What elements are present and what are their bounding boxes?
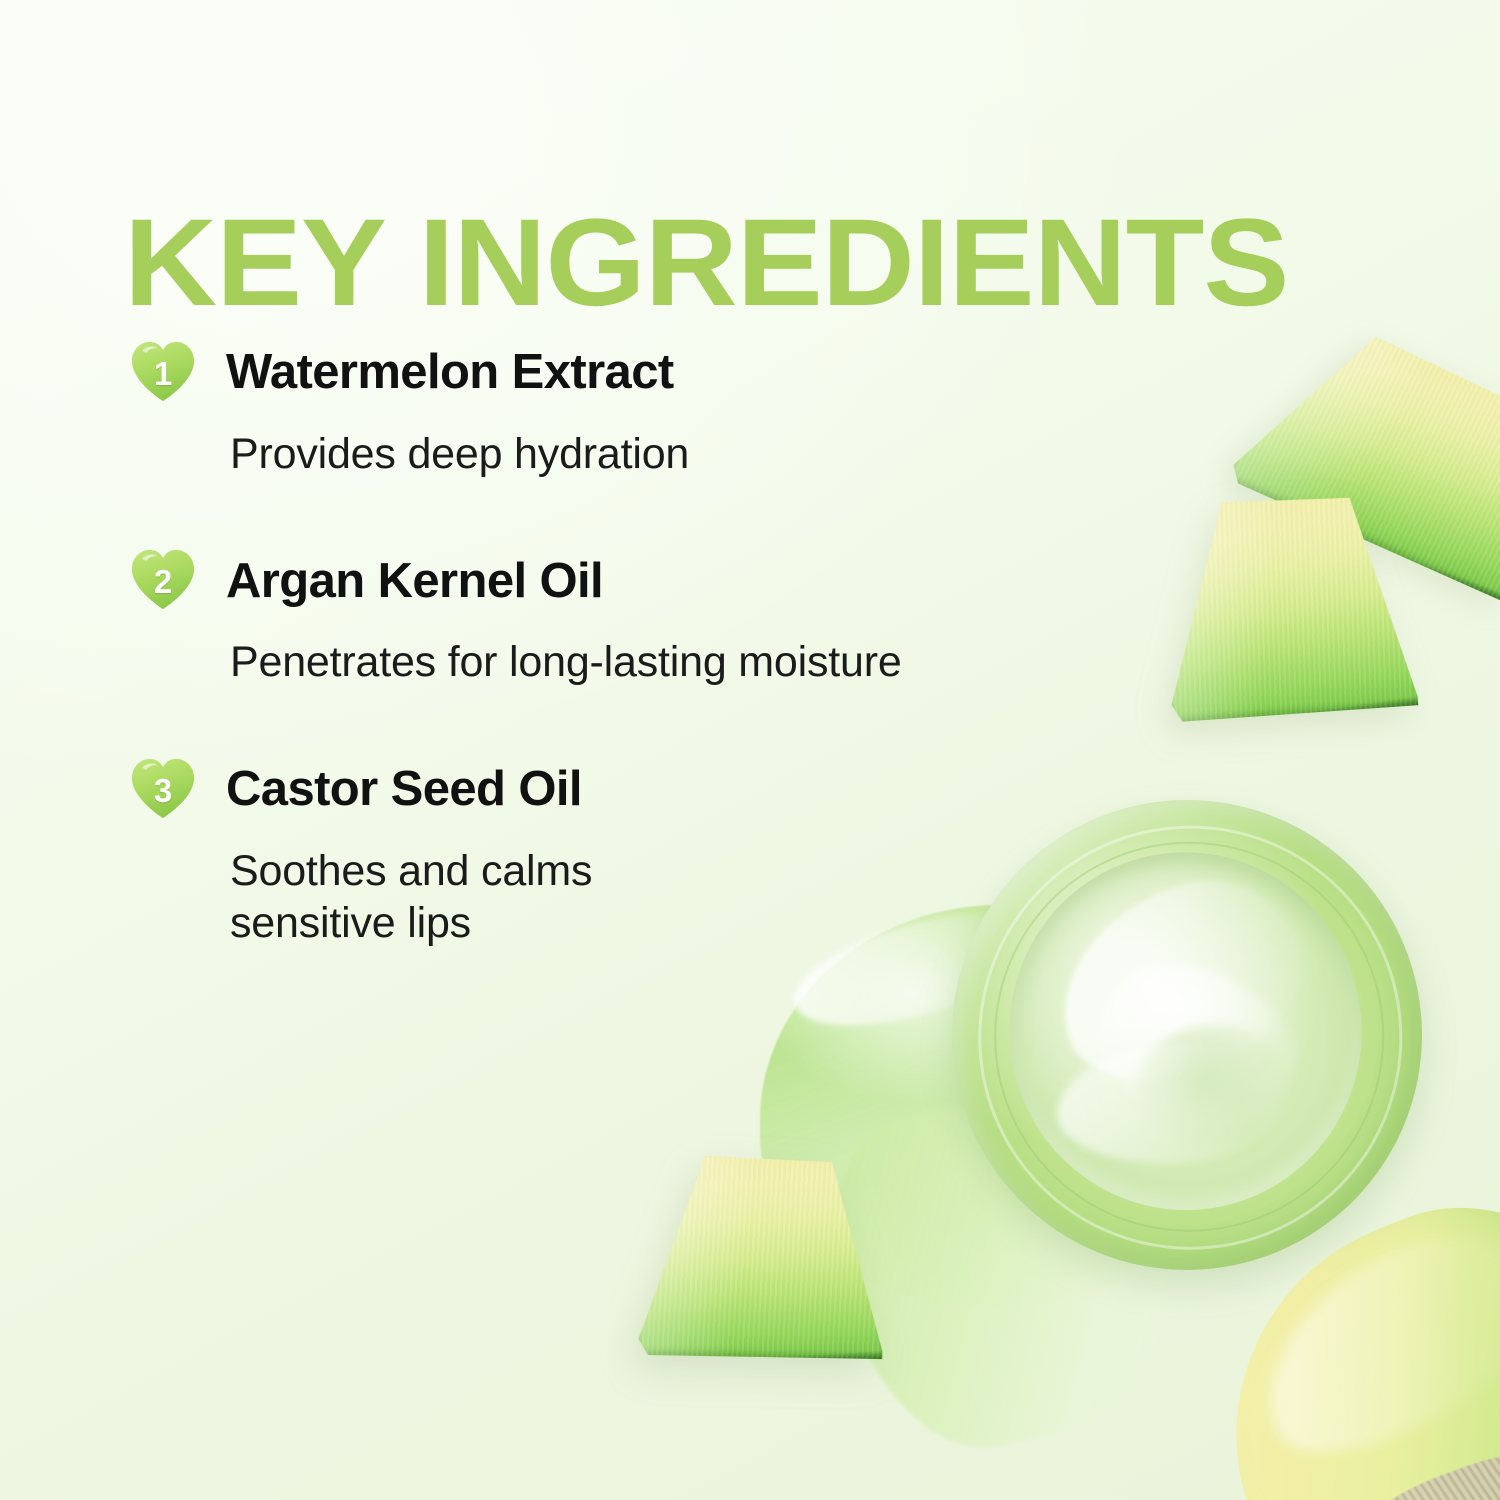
- melon-wedge-bottom-right: [1200, 1200, 1500, 1500]
- list-item: 3 Castor Seed Oil Soothes and calms sens…: [126, 753, 1076, 950]
- ingredient-name: Argan Kernel Oil: [226, 556, 603, 607]
- ingredient-benefit: Penetrates for long-lasting moisture: [230, 636, 1050, 688]
- melon-chunk-top-lower: [1158, 490, 1418, 723]
- ingredient-number: 2: [126, 544, 200, 618]
- ingredient-number: 3: [126, 753, 200, 827]
- melon-chunk-bottom-left: [638, 1155, 885, 1359]
- ingredient-name: Watermelon Extract: [226, 347, 674, 398]
- ingredient-benefit: Soothes and calms sensitive lips: [230, 845, 650, 950]
- list-item: 2 Argan Kernel Oil Penetrates for long-l…: [126, 544, 1076, 688]
- ingredient-list: 1 Watermelon Extract Provides deep hydra…: [126, 336, 1076, 1014]
- page-title: KEY INGREDIENTS: [124, 201, 1288, 325]
- key-ingredients-infographic: KEY INGREDIENTS: [0, 0, 1500, 1500]
- heart-icon: 2: [126, 544, 200, 618]
- ingredient-name: Castor Seed Oil: [226, 764, 582, 815]
- heart-icon: 1: [126, 336, 200, 410]
- list-item: 1 Watermelon Extract Provides deep hydra…: [126, 336, 1076, 480]
- ingredient-number: 1: [126, 336, 200, 410]
- ingredient-benefit: Provides deep hydration: [230, 428, 1050, 480]
- heart-icon: 3: [126, 753, 200, 827]
